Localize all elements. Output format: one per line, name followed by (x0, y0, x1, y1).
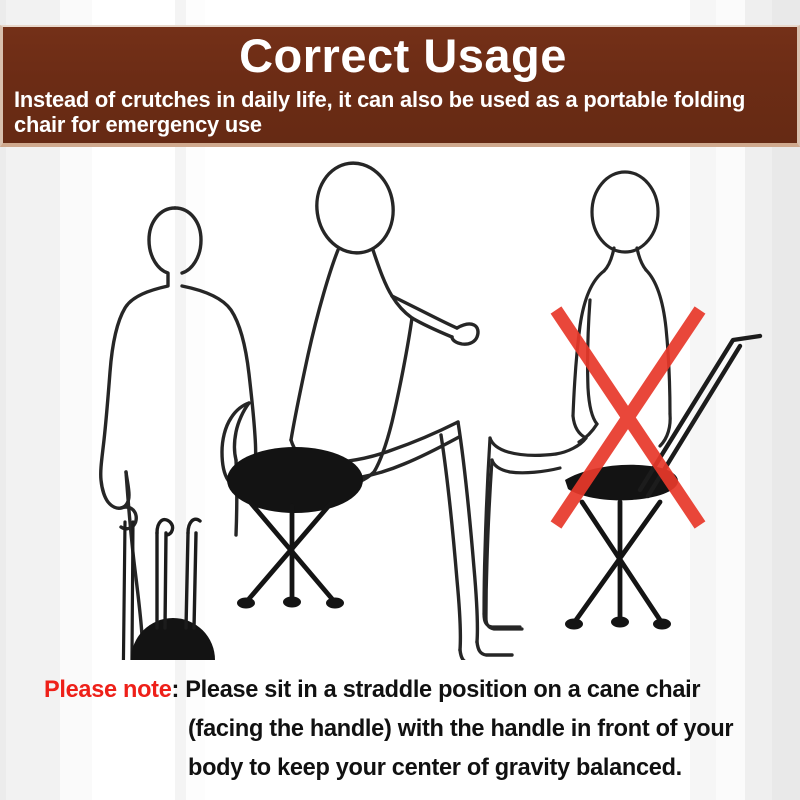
header-banner: Correct Usage Instead of crutches in dai… (0, 25, 800, 147)
folded-cane-shaft (122, 522, 133, 660)
cane-chair-panel2 (227, 447, 363, 609)
banner-subtitle: Instead of crutches in daily life, it ca… (14, 87, 773, 137)
note-text-line1: Please sit in a straddle position on a c… (185, 676, 700, 703)
note-line-1: Please note: Please sit in a straddle po… (44, 670, 700, 709)
note-text-line2: (facing the handle) with the handle in f… (188, 709, 733, 748)
illustration-area (0, 150, 800, 660)
note-block: Please note: Please sit in a straddle po… (0, 662, 800, 800)
note-separator: : (172, 676, 186, 703)
note-text-line3: body to keep your center of gravity bala… (188, 748, 682, 787)
note-label: Please note (44, 676, 172, 703)
folded-cane-chair-panel1 (130, 519, 222, 660)
figure-straddle-sitting-correct (291, 158, 512, 660)
page-title: Correct Usage (3, 25, 800, 87)
cane-chair-panel3 (565, 336, 760, 630)
product-instruction-image: Correct Usage Instead of crutches in dai… (0, 0, 800, 800)
